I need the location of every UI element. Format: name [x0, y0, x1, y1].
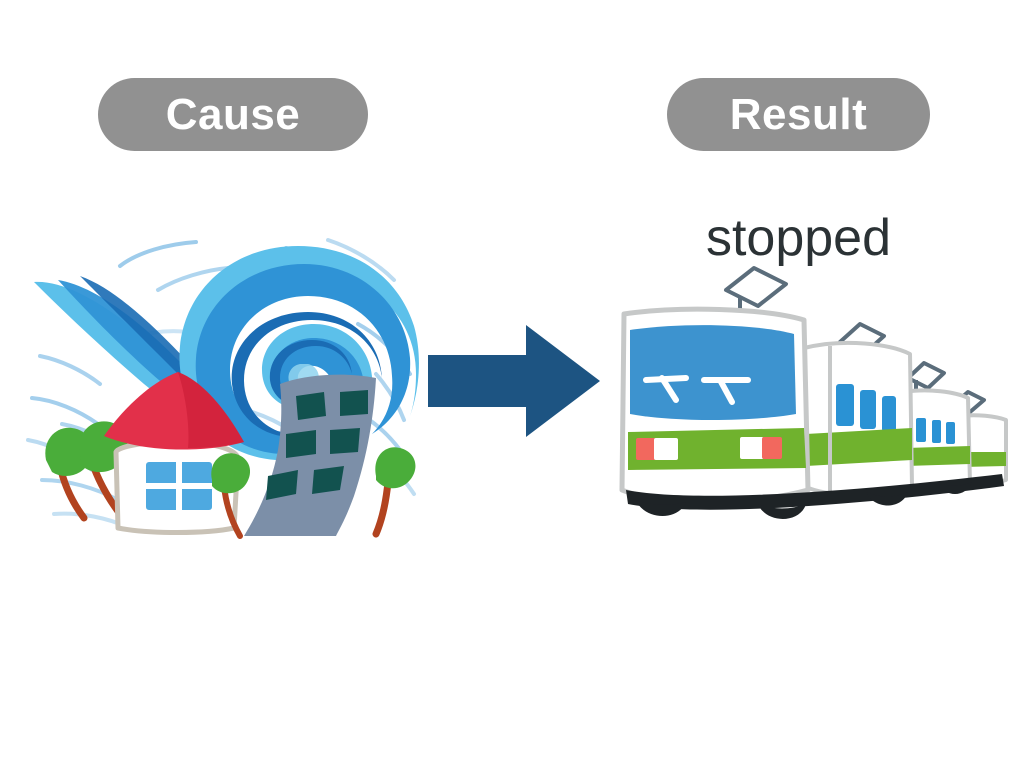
commuter-train-illustration	[608, 268, 1016, 534]
windshield	[630, 325, 796, 420]
result-label-pill: Result	[667, 78, 930, 151]
cause-label-text: Cause	[166, 93, 301, 137]
arrow-shape	[428, 325, 600, 437]
cause-label-pill: Cause	[98, 78, 368, 151]
train-car-2	[804, 343, 912, 495]
result-label-text: Result	[730, 93, 867, 137]
train-car-3	[904, 390, 970, 488]
slide-canvas: Cause Result stopped	[0, 0, 1024, 768]
typhoon-storm-illustration	[28, 228, 428, 538]
train-car-1-front	[622, 309, 808, 502]
result-caption-text: stopped	[667, 212, 930, 264]
right-arrow-icon	[428, 325, 600, 437]
